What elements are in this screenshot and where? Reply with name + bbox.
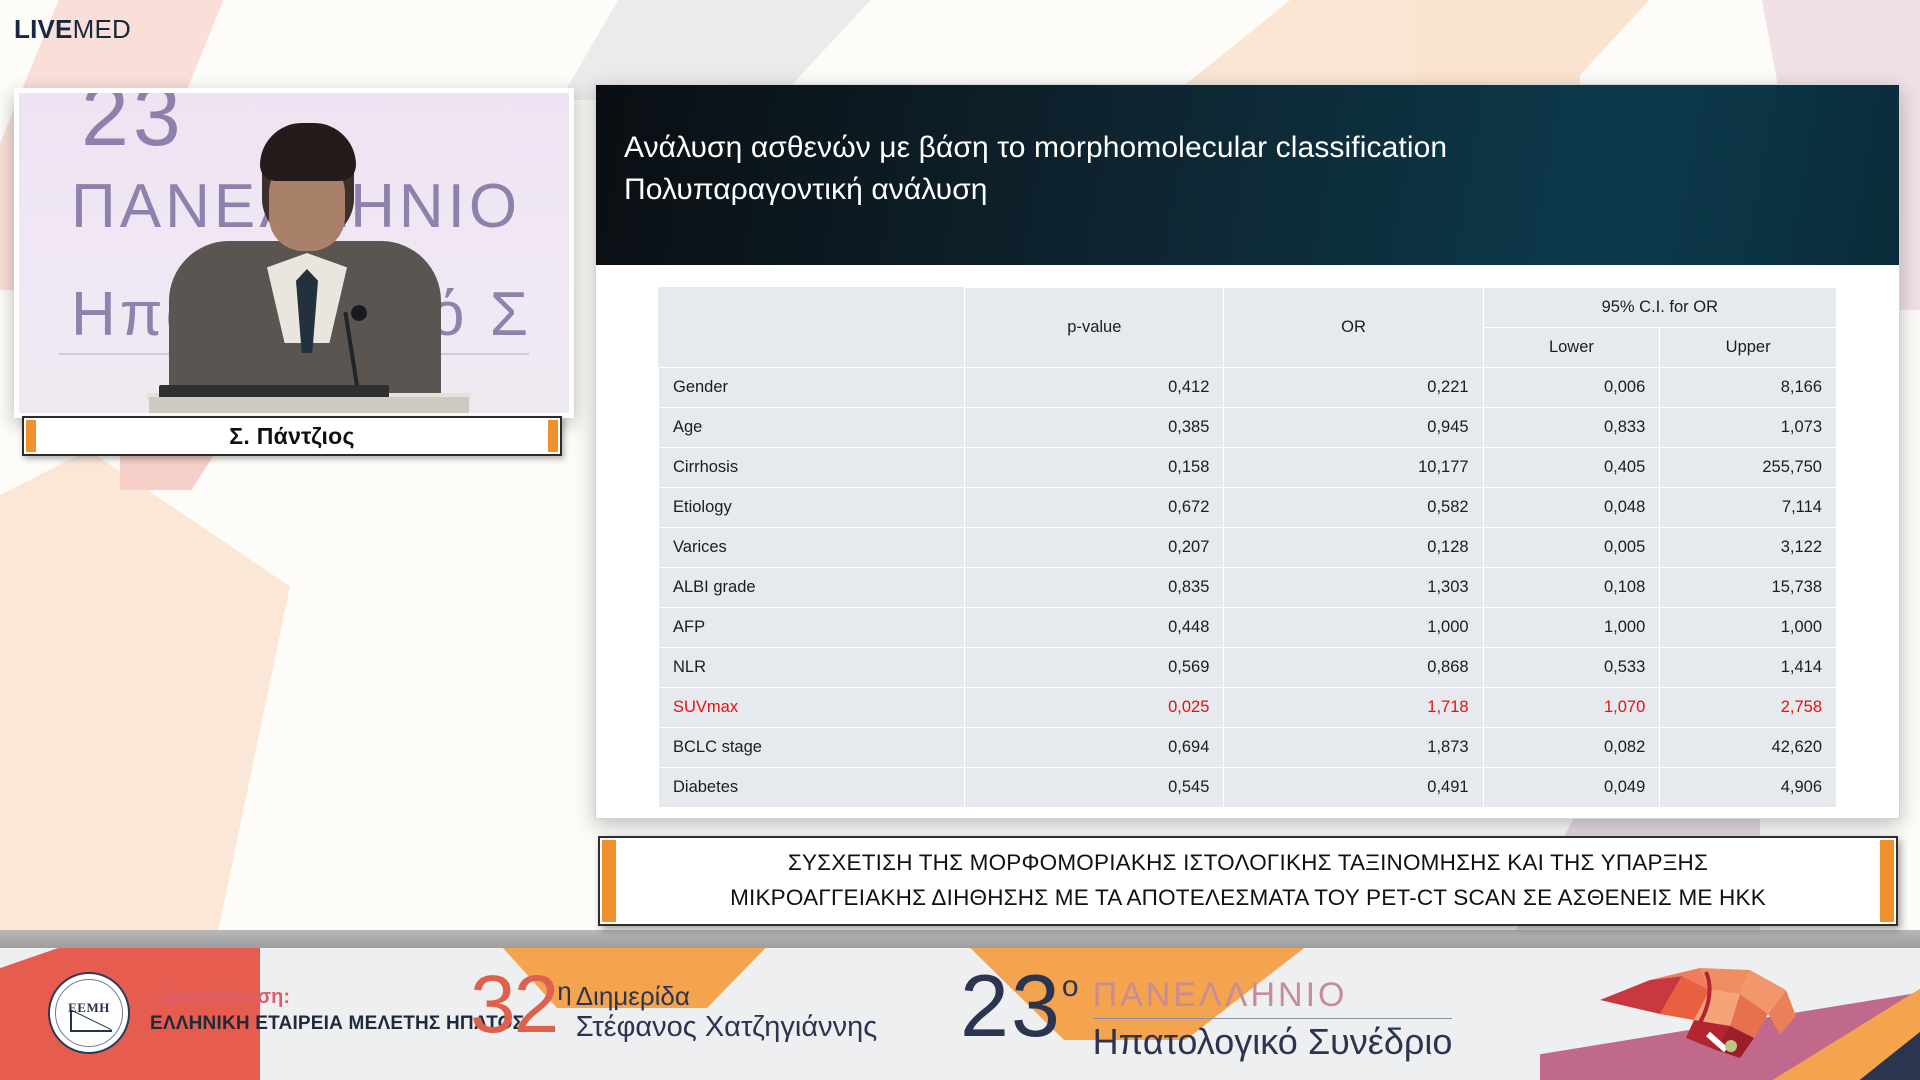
congress-number: 23	[960, 964, 1062, 1048]
header-ci-lower: Lower	[1483, 328, 1660, 368]
cell-p-value: 0,835	[965, 568, 1224, 608]
cell-p-value: 0,569	[965, 648, 1224, 688]
cell-p-value: 0,385	[965, 408, 1224, 448]
speaker-video-panel[interactable]: 23 ΠΑΝΕΛΛΗΝΙΟ Ηπατολογικό Σ	[14, 88, 574, 418]
table-row: AFP0,4481,0001,0001,000	[659, 608, 1837, 648]
cell-or: 0,221	[1224, 368, 1483, 408]
table-row: Age0,3850,9450,8331,073	[659, 408, 1837, 448]
meeting-ordinal-suffix: η	[557, 976, 571, 1007]
cell-ci-upper: 15,738	[1660, 568, 1837, 608]
table-head: p-value OR 95% C.I. for OR Lower Upper	[659, 288, 1837, 368]
table-row: BCLC stage0,6941,8730,08242,620	[659, 728, 1837, 768]
table-row: Etiology0,6720,5820,0487,114	[659, 488, 1837, 528]
cell-ci-lower: 0,533	[1483, 648, 1660, 688]
cell-ci-upper: 8,166	[1660, 368, 1837, 408]
cell-ci-lower: 0,108	[1483, 568, 1660, 608]
meeting-line-1: Διημερίδα	[576, 981, 690, 1011]
microphone-icon	[351, 305, 367, 321]
table-body: Gender0,4120,2210,0068,166Age0,3850,9450…	[659, 368, 1837, 808]
backdrop-text-number: 23	[81, 88, 185, 166]
presentation-slide[interactable]: Ανάλυση ασθενών με βάση το morphomolecul…	[595, 84, 1900, 819]
organizer-label: · Διοργάνωση:	[150, 986, 524, 1009]
cell-variable: NLR	[659, 648, 965, 688]
congress-divider	[1093, 1018, 1453, 1019]
cell-or: 10,177	[1224, 448, 1483, 488]
decor-divider-band	[0, 930, 1920, 948]
cell-p-value: 0,672	[965, 488, 1224, 528]
cell-variable: Cirrhosis	[659, 448, 965, 488]
slide-header: Ανάλυση ασθενών με βάση το morphomolecul…	[596, 85, 1899, 265]
cell-ci-upper: 255,750	[1660, 448, 1837, 488]
video-stage: 23 ΠΑΝΕΛΛΗΝΙΟ Ηπατολογικό Σ	[19, 93, 569, 413]
cell-variable: Age	[659, 408, 965, 448]
cell-or: 1,718	[1224, 688, 1483, 728]
table-row: SUVmax0,0251,7181,0702,758	[659, 688, 1837, 728]
cell-ci-lower: 0,405	[1483, 448, 1660, 488]
meeting-number: 32	[470, 966, 557, 1044]
cell-ci-upper: 4,906	[1660, 768, 1837, 808]
caption-text: ΣΥΣΧΕΤΙΣΗ ΤΗΣ ΜΟΡΦΟΜΟΡΙΑΚΗΣ ΙΣΤΟΛΟΓΙΚΗΣ …	[690, 846, 1806, 916]
header-ci-group: 95% C.I. for OR	[1483, 288, 1836, 328]
cell-ci-lower: 0,833	[1483, 408, 1660, 448]
congress-line-1: ΠΑΝΕΛΛΗΝΙΟ	[1093, 976, 1348, 1014]
cell-ci-upper: 42,620	[1660, 728, 1837, 768]
cell-or: 1,873	[1224, 728, 1483, 768]
cell-ci-lower: 0,048	[1483, 488, 1660, 528]
table-row: ALBI grade0,8351,3030,10815,738	[659, 568, 1837, 608]
logo-bold-part: LIVE	[14, 14, 73, 44]
cell-p-value: 0,207	[965, 528, 1224, 568]
meeting-line-2: Στέφανος Χατζηγιάννης	[576, 1011, 878, 1043]
header-p-value: p-value	[965, 288, 1224, 368]
organizer-name: ΕΛΛΗΝΙΚΗ ΕΤΑΙΡΕΙΑ ΜΕΛΕΤΗΣ ΗΠΑΤΟΣ	[150, 1013, 524, 1035]
table-row: Varices0,2070,1280,0053,122	[659, 528, 1837, 568]
cell-ci-upper: 1,073	[1660, 408, 1837, 448]
meeting-branding: 32 η Διημερίδα Στέφανος Χατζηγιάννης	[470, 966, 877, 1044]
cell-p-value: 0,545	[965, 768, 1224, 808]
cell-or: 0,582	[1224, 488, 1483, 528]
conference-footer: EEMH · Διοργάνωση: ΕΛΛΗΝΙΚΗ ΕΤΑΙΡΕΙΑ ΜΕΛ…	[0, 948, 1920, 1080]
caption-line-2: ΜΙΚΡΟΑΓΓΕΙΑΚΗΣ ΔΙΗΘΗΣΗΣ ΜΕ ΤΑ ΑΠΟΤΕΛΕΣΜΑ…	[730, 881, 1766, 916]
cell-p-value: 0,158	[965, 448, 1224, 488]
cell-variable: Gender	[659, 368, 965, 408]
header-variable-blank	[659, 288, 965, 368]
cell-p-value: 0,025	[965, 688, 1224, 728]
congress-branding: 23 ο ΠΑΝΕΛΛΗΝΙΟ Ηπατολογικό Συνέδριο	[960, 964, 1452, 1062]
speaker-name-plate: Σ. Πάντζιος	[22, 416, 562, 456]
cell-variable: BCLC stage	[659, 728, 965, 768]
cell-or: 0,128	[1224, 528, 1483, 568]
cell-variable: ALBI grade	[659, 568, 965, 608]
cell-variable: AFP	[659, 608, 965, 648]
slide-title-line-2: Πολυπαραγοντική ανάλυση	[608, 169, 1899, 211]
cell-ci-lower: 1,000	[1483, 608, 1660, 648]
cell-or: 1,000	[1224, 608, 1483, 648]
table-row: Gender0,4120,2210,0068,166	[659, 368, 1837, 408]
multivariate-analysis-table: p-value OR 95% C.I. for OR Lower Upper G…	[658, 287, 1837, 808]
cell-p-value: 0,694	[965, 728, 1224, 768]
cell-ci-lower: 0,006	[1483, 368, 1660, 408]
results-table-container: p-value OR 95% C.I. for OR Lower Upper G…	[596, 265, 1899, 808]
table-row: Cirrhosis0,15810,1770,405255,750	[659, 448, 1837, 488]
table-header-row-1: p-value OR 95% C.I. for OR	[659, 288, 1837, 328]
cell-ci-lower: 1,070	[1483, 688, 1660, 728]
cell-p-value: 0,448	[965, 608, 1224, 648]
congress-text: ΠΑΝΕΛΛΗΝΙΟ Ηπατολογικό Συνέδριο	[1093, 978, 1453, 1062]
podium	[149, 397, 469, 418]
cell-or: 0,491	[1224, 768, 1483, 808]
caption-line-1: ΣΥΣΧΕΤΙΣΗ ΤΗΣ ΜΟΡΦΟΜΟΡΙΑΚΗΣ ΙΣΤΟΛΟΓΙΚΗΣ …	[730, 846, 1766, 881]
logo-triangle-mark	[70, 1010, 112, 1032]
cell-or: 0,868	[1224, 648, 1483, 688]
cell-or: 0,945	[1224, 408, 1483, 448]
speaker-hair	[260, 123, 356, 181]
header-ci-upper: Upper	[1660, 328, 1837, 368]
livemed-logo[interactable]: LIVEMED	[14, 14, 131, 45]
speaker-name: Σ. Πάντζιος	[229, 423, 355, 450]
cell-p-value: 0,412	[965, 368, 1224, 408]
presentation-title-banner: ΣΥΣΧΕΤΙΣΗ ΤΗΣ ΜΟΡΦΟΜΟΡΙΑΚΗΣ ΙΣΤΟΛΟΓΙΚΗΣ …	[598, 836, 1898, 926]
cell-variable: Varices	[659, 528, 965, 568]
cell-ci-upper: 7,114	[1660, 488, 1837, 528]
congress-ordinal-suffix: ο	[1062, 970, 1079, 1004]
slide-title-line-1: Ανάλυση ασθενών με βάση το morphomolecul…	[608, 127, 1899, 169]
cell-ci-upper: 3,122	[1660, 528, 1837, 568]
cell-ci-lower: 0,005	[1483, 528, 1660, 568]
cell-variable: Diabetes	[659, 768, 965, 808]
cell-ci-upper: 1,414	[1660, 648, 1837, 688]
cell-ci-lower: 0,082	[1483, 728, 1660, 768]
cell-ci-upper: 2,758	[1660, 688, 1837, 728]
eemh-society-logo: EEMH	[48, 972, 130, 1054]
liver-illustration-icon	[1590, 954, 1860, 1074]
organizer-block: · Διοργάνωση: ΕΛΛΗΝΙΚΗ ΕΤΑΙΡΕΙΑ ΜΕΛΕΤΗΣ …	[150, 986, 524, 1035]
table-row: NLR0,5690,8680,5331,414	[659, 648, 1837, 688]
logo-light-part: MED	[73, 14, 131, 44]
cell-or: 1,303	[1224, 568, 1483, 608]
table-row: Diabetes0,5450,4910,0494,906	[659, 768, 1837, 808]
cell-ci-upper: 1,000	[1660, 608, 1837, 648]
cell-variable: Etiology	[659, 488, 965, 528]
congress-line-2: Ηπατολογικό Συνέδριο	[1093, 1021, 1453, 1062]
header-or: OR	[1224, 288, 1483, 368]
cell-variable: SUVmax	[659, 688, 965, 728]
cell-ci-lower: 0,049	[1483, 768, 1660, 808]
meeting-text: Διημερίδα Στέφανος Χατζηγιάννης	[576, 982, 878, 1044]
